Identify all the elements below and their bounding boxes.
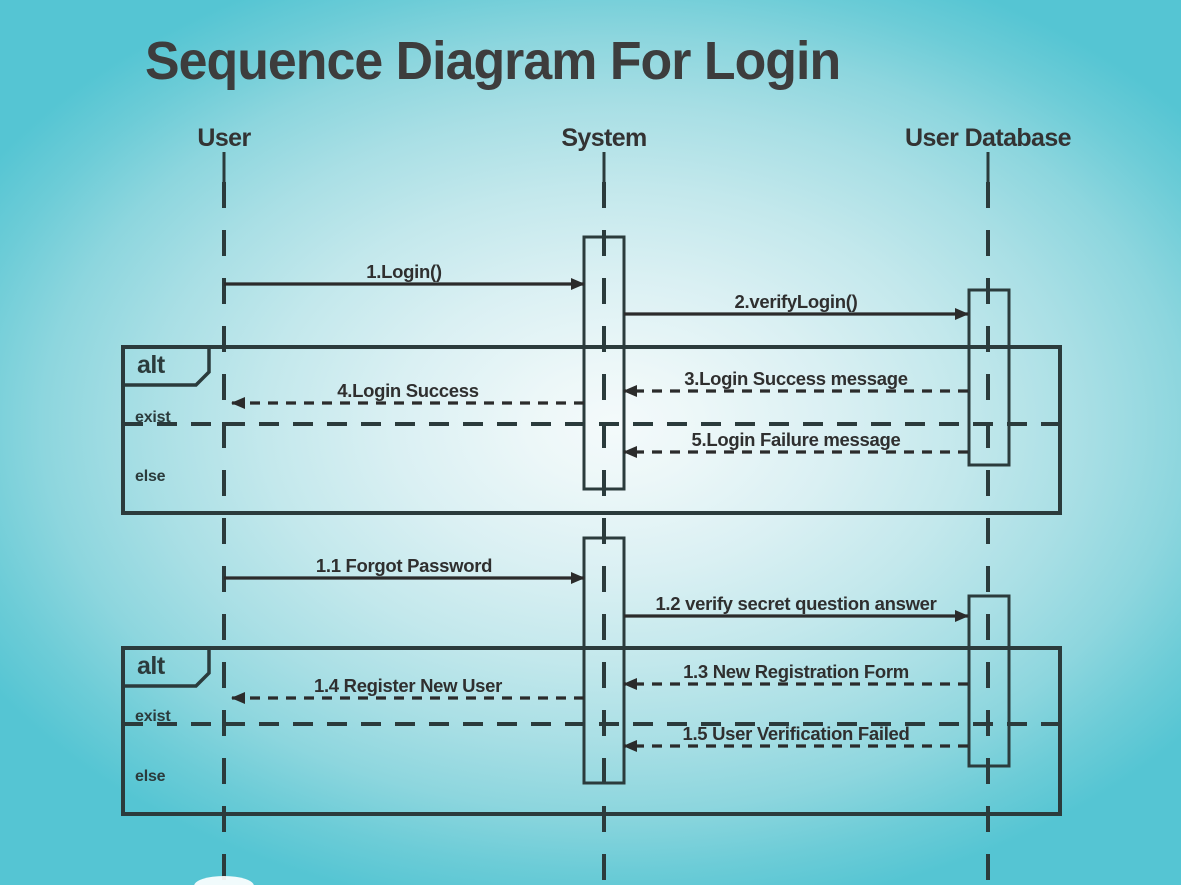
message-label-m13: 1.3 New Registration Form bbox=[683, 661, 909, 683]
lifeline-label-userdb: User Database bbox=[905, 124, 1071, 153]
message-label-m12: 1.2 verify secret question answer bbox=[655, 593, 936, 615]
message-label-m1: 1.Login() bbox=[366, 261, 441, 283]
fragment-guard-alt1-1: else bbox=[135, 468, 165, 486]
message-label-m15: 1.5 User Verification Failed bbox=[682, 723, 909, 745]
fragments-group bbox=[123, 347, 1060, 814]
fragment-frame-alt2 bbox=[123, 648, 1060, 814]
lifeline-label-system: System bbox=[561, 124, 646, 153]
message-label-m3: 3.Login Success message bbox=[684, 368, 907, 390]
lifeline-base-ellipse-user bbox=[194, 876, 254, 885]
fragment-guard-alt2-1: else bbox=[135, 768, 165, 786]
message-label-m2: 2.verifyLogin() bbox=[735, 291, 858, 313]
fragment-operator-box-alt1 bbox=[123, 347, 209, 385]
fragment-operator-box-alt2 bbox=[123, 648, 209, 686]
lifelines-group bbox=[194, 152, 988, 885]
sequence-diagram-canvas: Sequence Diagram For Login UserSystemUse… bbox=[0, 0, 1181, 885]
message-label-m11: 1.1 Forgot Password bbox=[316, 555, 492, 577]
fragment-guard-alt1-0: exist bbox=[135, 409, 170, 427]
message-label-m5: 5.Login Failure message bbox=[691, 429, 900, 451]
activation-bar-act-system-1 bbox=[584, 237, 624, 489]
activations-group bbox=[584, 237, 1009, 783]
fragment-guard-alt2-0: exist bbox=[135, 708, 170, 726]
lifeline-label-user: User bbox=[197, 124, 250, 153]
message-label-m14: 1.4 Register New User bbox=[314, 675, 502, 697]
fragment-operator-label-alt1: alt bbox=[137, 351, 165, 380]
fragment-operator-label-alt2: alt bbox=[137, 652, 165, 681]
message-label-m4: 4.Login Success bbox=[337, 380, 479, 402]
